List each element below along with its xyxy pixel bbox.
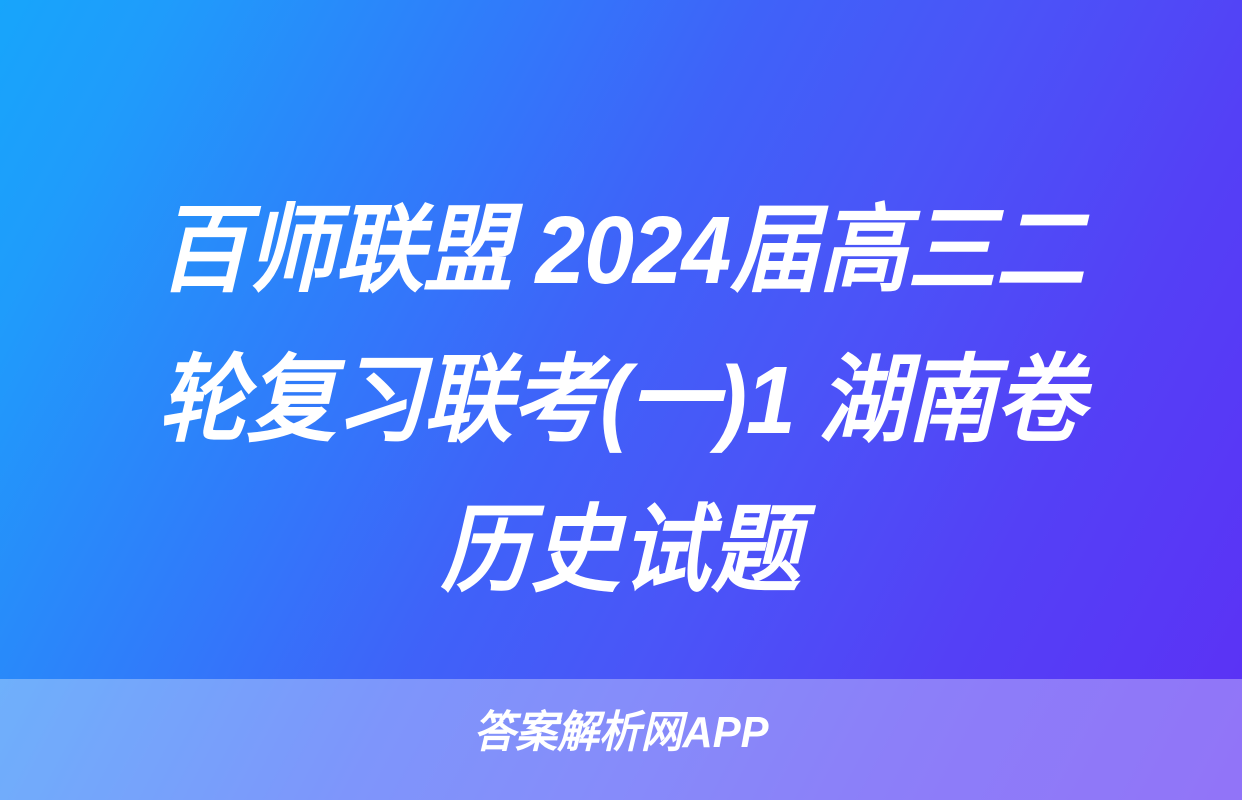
title-line-1: 百师联盟 2024届高三二 xyxy=(43,176,1198,326)
watermark-band: 答案解析网APP xyxy=(0,679,1242,800)
title-line-3: 历史试题 xyxy=(43,476,1198,626)
page-title: 百师联盟 2024届高三二 轮复习联考(一)1 湖南卷 历史试题 xyxy=(43,176,1198,626)
title-line-2: 轮复习联考(一)1 湖南卷 xyxy=(43,326,1198,476)
poster-container: 百师联盟 2024届高三二 轮复习联考(一)1 湖南卷 历史试题 答案解析网AP… xyxy=(0,0,1242,800)
watermark-text: 答案解析网APP xyxy=(31,707,1211,759)
